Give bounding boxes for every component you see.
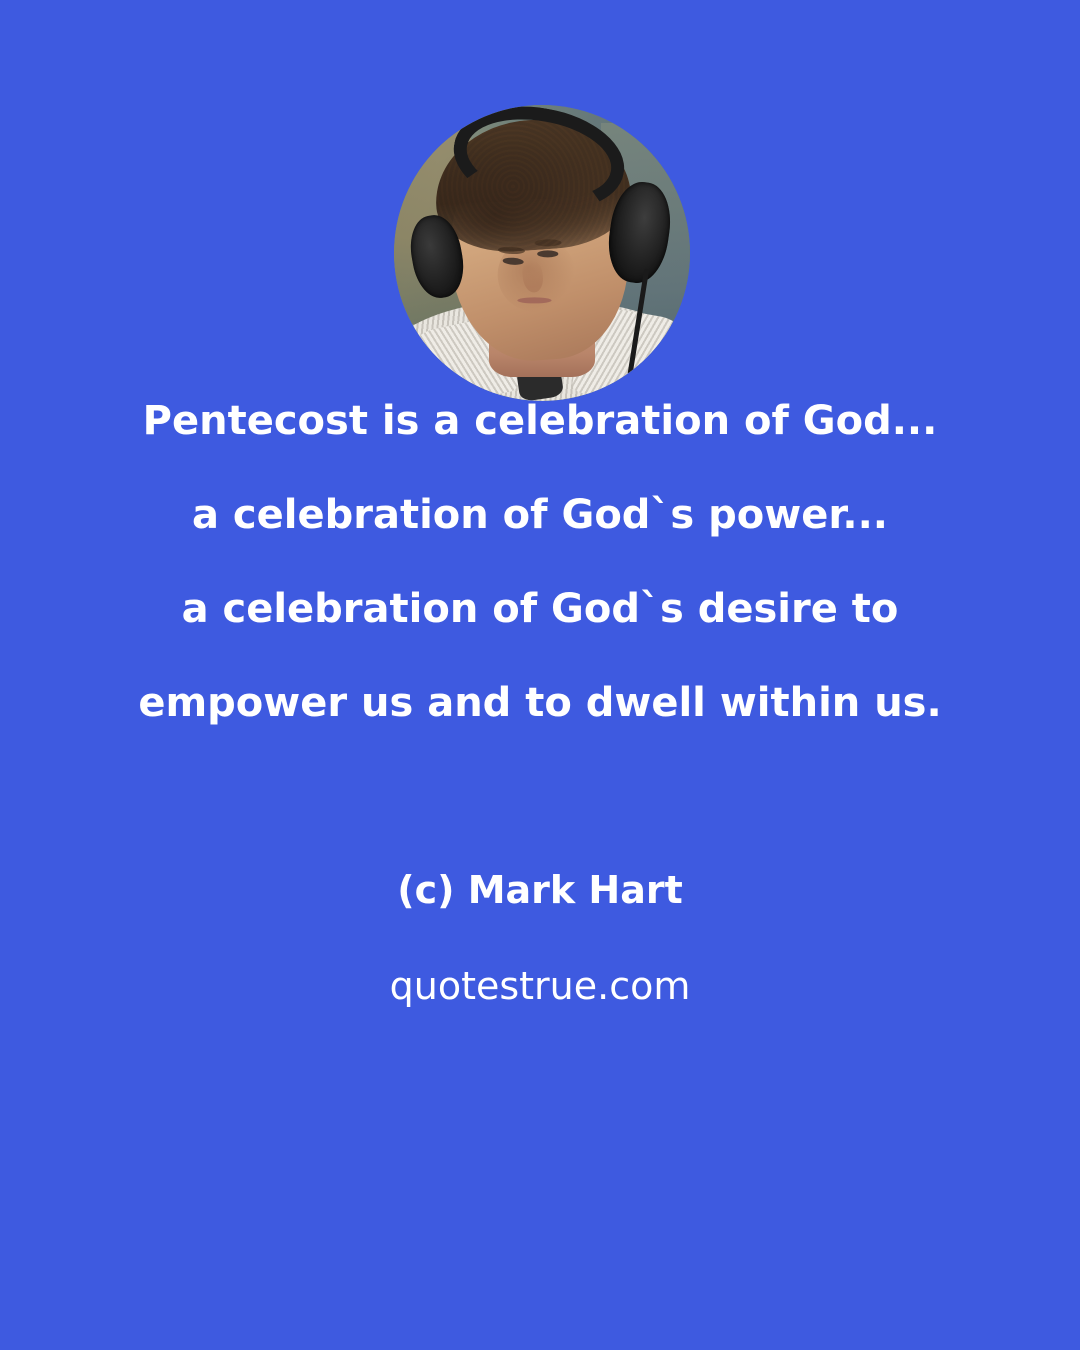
quote-text: Pentecost is a celebration of God... a c…: [0, 374, 1080, 750]
quote-line-2: a celebration of God`s power...: [0, 468, 1080, 562]
source-website: quotestrue.com: [0, 958, 1080, 1014]
portrait-image: [394, 105, 690, 401]
mouth: [518, 296, 552, 302]
quote-line-3: a celebration of God`s desire to: [0, 562, 1080, 656]
quote-attribution: (c) Mark Hart: [0, 862, 1080, 918]
portrait-avatar: [394, 105, 690, 401]
eye-right: [538, 250, 559, 257]
quote-card: Pentecost is a celebration of God... a c…: [0, 0, 1080, 1350]
quote-line-4: empower us and to dwell within us.: [0, 656, 1080, 750]
quote-line-1: Pentecost is a celebration of God...: [0, 374, 1080, 468]
